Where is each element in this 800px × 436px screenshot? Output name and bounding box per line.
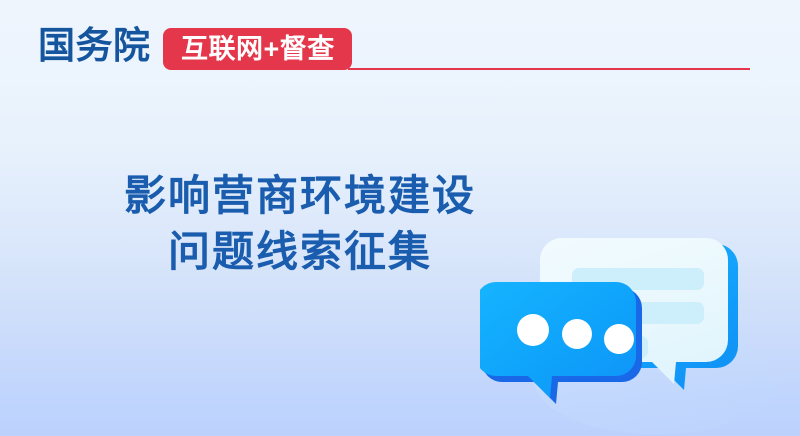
speech-bubbles-illustration (480, 220, 800, 436)
dot-1 (517, 314, 549, 346)
header-divider-line (348, 68, 750, 70)
internet-plus-supervision-badge: 互联网+督查 (163, 28, 352, 70)
banner-header: 国务院 互联网+督查 (0, 0, 800, 86)
promo-banner: 国务院 互联网+督查 影响营商环境建设 问题线索征集 (0, 0, 800, 436)
gov-logo-text: 国务院 (38, 24, 151, 68)
dot-2 (562, 319, 592, 349)
badge-label: 互联网+督查 (181, 36, 335, 63)
headline-line-1: 影响营商环境建设 (0, 168, 600, 224)
dot-3 (604, 324, 634, 354)
